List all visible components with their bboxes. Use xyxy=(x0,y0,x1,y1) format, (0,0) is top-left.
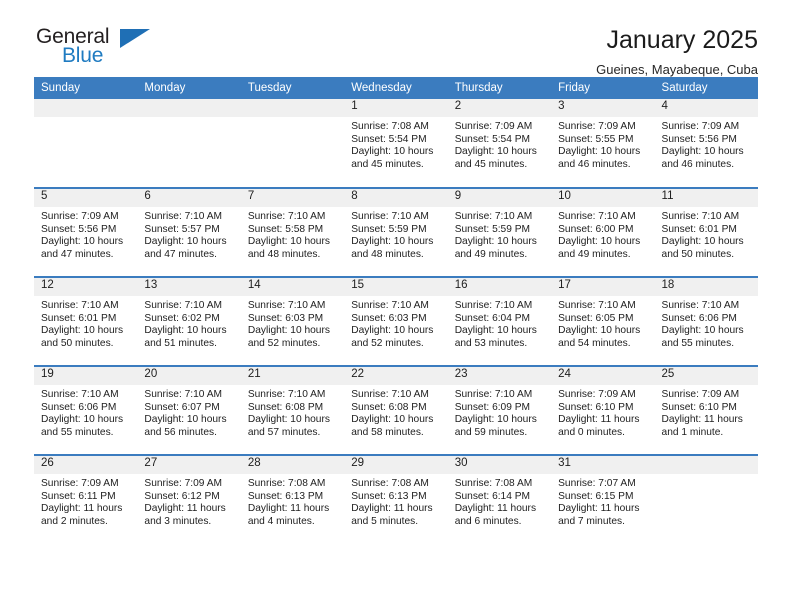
sunrise-text: Sunrise: 7:09 AM xyxy=(144,478,234,491)
sunset-text: Sunset: 5:54 PM xyxy=(455,134,545,147)
sunrise-text: Sunrise: 7:10 AM xyxy=(144,389,234,402)
sunrise-text: Sunrise: 7:07 AM xyxy=(558,478,648,491)
day-number: 10 xyxy=(551,189,654,207)
calendar-day-cell[interactable]: 7Sunrise: 7:10 AMSunset: 5:58 PMDaylight… xyxy=(241,188,344,277)
day-number: 1 xyxy=(344,99,447,117)
daylight-text-line2: and 52 minutes. xyxy=(351,338,441,351)
sunrise-text: Sunrise: 7:10 AM xyxy=(248,211,338,224)
calendar-day-cell[interactable]: 4Sunrise: 7:09 AMSunset: 5:56 PMDaylight… xyxy=(655,99,758,188)
sunrise-text: Sunrise: 7:10 AM xyxy=(144,300,234,313)
day-number: 16 xyxy=(448,278,551,296)
day-number: 6 xyxy=(137,189,240,207)
daylight-text-line1: Daylight: 10 hours xyxy=(144,325,234,338)
day-cell-inner xyxy=(241,99,344,187)
weekday-header-thursday: Thursday xyxy=(448,77,551,99)
calendar-week-row: 12Sunrise: 7:10 AMSunset: 6:01 PMDayligh… xyxy=(34,277,758,366)
day-cell-details: Sunrise: 7:09 AMSunset: 6:11 PMDaylight:… xyxy=(34,474,137,528)
sunrise-text: Sunrise: 7:09 AM xyxy=(558,121,648,134)
sunrise-text: Sunrise: 7:08 AM xyxy=(351,121,441,134)
sunset-text: Sunset: 6:08 PM xyxy=(351,402,441,415)
weekday-header-wednesday: Wednesday xyxy=(344,77,447,99)
daylight-text-line2: and 6 minutes. xyxy=(455,516,545,529)
sunrise-text: Sunrise: 7:10 AM xyxy=(351,211,441,224)
daylight-text-line2: and 53 minutes. xyxy=(455,338,545,351)
daylight-text-line2: and 46 minutes. xyxy=(662,159,752,172)
day-cell-details: Sunrise: 7:09 AMSunset: 6:12 PMDaylight:… xyxy=(137,474,240,528)
day-cell-details: Sunrise: 7:09 AMSunset: 5:55 PMDaylight:… xyxy=(551,117,654,171)
daylight-text-line1: Daylight: 10 hours xyxy=(558,236,648,249)
daylight-text-line2: and 1 minute. xyxy=(662,427,752,440)
day-cell-details: Sunrise: 7:10 AMSunset: 6:08 PMDaylight:… xyxy=(241,385,344,439)
sunrise-text: Sunrise: 7:09 AM xyxy=(662,121,752,134)
daylight-text-line2: and 50 minutes. xyxy=(41,338,131,351)
daylight-text-line1: Daylight: 10 hours xyxy=(455,414,545,427)
sunrise-text: Sunrise: 7:10 AM xyxy=(455,389,545,402)
day-cell-details: Sunrise: 7:10 AMSunset: 6:03 PMDaylight:… xyxy=(344,296,447,350)
day-number: 20 xyxy=(137,367,240,385)
day-cell-details: Sunrise: 7:08 AMSunset: 5:54 PMDaylight:… xyxy=(344,117,447,171)
daylight-text-line2: and 52 minutes. xyxy=(248,338,338,351)
sunset-text: Sunset: 6:04 PM xyxy=(455,313,545,326)
sunset-text: Sunset: 6:06 PM xyxy=(41,402,131,415)
daylight-text-line2: and 57 minutes. xyxy=(248,427,338,440)
day-cell-inner: 16Sunrise: 7:10 AMSunset: 6:04 PMDayligh… xyxy=(448,278,551,365)
sunset-text: Sunset: 5:57 PM xyxy=(144,224,234,237)
daylight-text-line1: Daylight: 10 hours xyxy=(351,146,441,159)
logo-text-blue: Blue xyxy=(62,45,103,66)
day-cell-inner xyxy=(137,99,240,187)
day-cell-inner: 6Sunrise: 7:10 AMSunset: 5:57 PMDaylight… xyxy=(137,189,240,276)
sunset-text: Sunset: 5:56 PM xyxy=(41,224,131,237)
day-cell-details: Sunrise: 7:10 AMSunset: 5:59 PMDaylight:… xyxy=(448,207,551,261)
title-block: January 2025 Gueines, Mayabeque, Cuba xyxy=(596,26,758,77)
calendar-head: Sunday Monday Tuesday Wednesday Thursday… xyxy=(34,77,758,99)
day-cell-details: Sunrise: 7:10 AMSunset: 5:58 PMDaylight:… xyxy=(241,207,344,261)
sunset-text: Sunset: 6:01 PM xyxy=(41,313,131,326)
calendar-day-cell-empty xyxy=(241,99,344,188)
day-cell-inner: 5Sunrise: 7:09 AMSunset: 5:56 PMDaylight… xyxy=(34,189,137,276)
daylight-text-line2: and 4 minutes. xyxy=(248,516,338,529)
day-cell-details: Sunrise: 7:08 AMSunset: 6:13 PMDaylight:… xyxy=(241,474,344,528)
calendar-day-cell[interactable]: 21Sunrise: 7:10 AMSunset: 6:08 PMDayligh… xyxy=(241,366,344,455)
day-cell-details: Sunrise: 7:09 AMSunset: 5:56 PMDaylight:… xyxy=(34,207,137,261)
day-number: 24 xyxy=(551,367,654,385)
daylight-text-line2: and 45 minutes. xyxy=(351,159,441,172)
sunrise-text: Sunrise: 7:10 AM xyxy=(455,300,545,313)
daylight-text-line1: Daylight: 11 hours xyxy=(662,414,752,427)
page-title: January 2025 xyxy=(596,26,758,55)
sunrise-text: Sunrise: 7:10 AM xyxy=(558,300,648,313)
day-number: 2 xyxy=(448,99,551,117)
calendar-day-cell[interactable]: 15Sunrise: 7:10 AMSunset: 6:03 PMDayligh… xyxy=(344,277,447,366)
page-header: General Blue January 2025 Gueines, Mayab… xyxy=(34,0,758,70)
weekday-header-saturday: Saturday xyxy=(655,77,758,99)
day-number: 21 xyxy=(241,367,344,385)
daylight-text-line2: and 54 minutes. xyxy=(558,338,648,351)
sunset-text: Sunset: 6:13 PM xyxy=(351,491,441,504)
day-cell-inner: 20Sunrise: 7:10 AMSunset: 6:07 PMDayligh… xyxy=(137,367,240,454)
day-cell-details: Sunrise: 7:09 AMSunset: 6:10 PMDaylight:… xyxy=(655,385,758,439)
day-number: 29 xyxy=(344,456,447,474)
daylight-text-line2: and 48 minutes. xyxy=(248,249,338,262)
daylight-text-line2: and 7 minutes. xyxy=(558,516,648,529)
calendar-day-cell[interactable]: 14Sunrise: 7:10 AMSunset: 6:03 PMDayligh… xyxy=(241,277,344,366)
calendar-day-cell[interactable]: 31Sunrise: 7:07 AMSunset: 6:15 PMDayligh… xyxy=(551,455,654,544)
calendar-day-cell[interactable]: 25Sunrise: 7:09 AMSunset: 6:10 PMDayligh… xyxy=(655,366,758,455)
sunset-text: Sunset: 5:54 PM xyxy=(351,134,441,147)
calendar-day-cell[interactable]: 1Sunrise: 7:08 AMSunset: 5:54 PMDaylight… xyxy=(344,99,447,188)
logo-triangle-icon xyxy=(120,29,150,48)
calendar-day-cell-empty xyxy=(34,99,137,188)
day-cell-details: Sunrise: 7:10 AMSunset: 6:00 PMDaylight:… xyxy=(551,207,654,261)
calendar-day-cell[interactable]: 20Sunrise: 7:10 AMSunset: 6:07 PMDayligh… xyxy=(137,366,240,455)
sunrise-text: Sunrise: 7:09 AM xyxy=(455,121,545,134)
calendar-day-cell[interactable]: 13Sunrise: 7:10 AMSunset: 6:02 PMDayligh… xyxy=(137,277,240,366)
sunrise-text: Sunrise: 7:08 AM xyxy=(248,478,338,491)
day-cell-details: Sunrise: 7:10 AMSunset: 6:01 PMDaylight:… xyxy=(655,207,758,261)
page-subtitle: Gueines, Mayabeque, Cuba xyxy=(596,62,758,77)
calendar-day-cell[interactable]: 23Sunrise: 7:10 AMSunset: 6:09 PMDayligh… xyxy=(448,366,551,455)
sunset-text: Sunset: 6:07 PM xyxy=(144,402,234,415)
sunrise-text: Sunrise: 7:10 AM xyxy=(351,300,441,313)
sunset-text: Sunset: 6:11 PM xyxy=(41,491,131,504)
day-number: 7 xyxy=(241,189,344,207)
calendar-day-cell[interactable]: 3Sunrise: 7:09 AMSunset: 5:55 PMDaylight… xyxy=(551,99,654,188)
day-cell-inner: 19Sunrise: 7:10 AMSunset: 6:06 PMDayligh… xyxy=(34,367,137,454)
daylight-text-line1: Daylight: 10 hours xyxy=(144,414,234,427)
sunrise-text: Sunrise: 7:10 AM xyxy=(144,211,234,224)
calendar-day-cell[interactable]: 30Sunrise: 7:08 AMSunset: 6:14 PMDayligh… xyxy=(448,455,551,544)
sunrise-text: Sunrise: 7:10 AM xyxy=(662,211,752,224)
calendar-day-cell[interactable]: 29Sunrise: 7:08 AMSunset: 6:13 PMDayligh… xyxy=(344,455,447,544)
weekday-header-row: Sunday Monday Tuesday Wednesday Thursday… xyxy=(34,77,758,99)
day-number: 12 xyxy=(34,278,137,296)
calendar-week-row: 19Sunrise: 7:10 AMSunset: 6:06 PMDayligh… xyxy=(34,366,758,455)
daylight-text-line2: and 0 minutes. xyxy=(558,427,648,440)
day-cell-inner: 28Sunrise: 7:08 AMSunset: 6:13 PMDayligh… xyxy=(241,456,344,544)
daylight-text-line1: Daylight: 10 hours xyxy=(351,414,441,427)
calendar-day-cell[interactable]: 6Sunrise: 7:10 AMSunset: 5:57 PMDaylight… xyxy=(137,188,240,277)
sunrise-text: Sunrise: 7:10 AM xyxy=(248,300,338,313)
daylight-text-line1: Daylight: 10 hours xyxy=(248,414,338,427)
daylight-text-line1: Daylight: 10 hours xyxy=(662,236,752,249)
day-number: 25 xyxy=(655,367,758,385)
day-number: 4 xyxy=(655,99,758,117)
sunset-text: Sunset: 6:03 PM xyxy=(351,313,441,326)
sunrise-text: Sunrise: 7:10 AM xyxy=(248,389,338,402)
calendar-week-row: 26Sunrise: 7:09 AMSunset: 6:11 PMDayligh… xyxy=(34,455,758,544)
day-cell-inner: 11Sunrise: 7:10 AMSunset: 6:01 PMDayligh… xyxy=(655,189,758,276)
calendar-body: 1Sunrise: 7:08 AMSunset: 5:54 PMDaylight… xyxy=(34,99,758,544)
day-cell-details: Sunrise: 7:09 AMSunset: 5:54 PMDaylight:… xyxy=(448,117,551,171)
daylight-text-line1: Daylight: 10 hours xyxy=(248,325,338,338)
day-cell-details: Sunrise: 7:10 AMSunset: 6:05 PMDaylight:… xyxy=(551,296,654,350)
daylight-text-line1: Daylight: 10 hours xyxy=(41,414,131,427)
sunset-text: Sunset: 6:06 PM xyxy=(662,313,752,326)
day-cell-details: Sunrise: 7:10 AMSunset: 6:02 PMDaylight:… xyxy=(137,296,240,350)
day-number: 26 xyxy=(34,456,137,474)
day-number: 3 xyxy=(551,99,654,117)
day-number: 17 xyxy=(551,278,654,296)
calendar-day-cell[interactable]: 10Sunrise: 7:10 AMSunset: 6:00 PMDayligh… xyxy=(551,188,654,277)
day-number: 11 xyxy=(655,189,758,207)
calendar-day-cell[interactable]: 16Sunrise: 7:10 AMSunset: 6:04 PMDayligh… xyxy=(448,277,551,366)
day-cell-details: Sunrise: 7:10 AMSunset: 6:06 PMDaylight:… xyxy=(655,296,758,350)
day-cell-inner xyxy=(34,99,137,187)
day-cell-details: Sunrise: 7:10 AMSunset: 6:08 PMDaylight:… xyxy=(344,385,447,439)
day-cell-inner: 9Sunrise: 7:10 AMSunset: 5:59 PMDaylight… xyxy=(448,189,551,276)
daylight-text-line1: Daylight: 10 hours xyxy=(662,325,752,338)
day-cell-inner: 3Sunrise: 7:09 AMSunset: 5:55 PMDaylight… xyxy=(551,99,654,187)
day-cell-inner xyxy=(655,456,758,544)
day-number: 22 xyxy=(344,367,447,385)
sunrise-text: Sunrise: 7:08 AM xyxy=(455,478,545,491)
calendar-day-cell[interactable]: 9Sunrise: 7:10 AMSunset: 5:59 PMDaylight… xyxy=(448,188,551,277)
day-cell-inner: 10Sunrise: 7:10 AMSunset: 6:00 PMDayligh… xyxy=(551,189,654,276)
calendar-day-cell[interactable]: 17Sunrise: 7:10 AMSunset: 6:05 PMDayligh… xyxy=(551,277,654,366)
day-cell-inner: 8Sunrise: 7:10 AMSunset: 5:59 PMDaylight… xyxy=(344,189,447,276)
calendar-day-cell[interactable]: 24Sunrise: 7:09 AMSunset: 6:10 PMDayligh… xyxy=(551,366,654,455)
sunset-text: Sunset: 5:55 PM xyxy=(558,134,648,147)
daylight-text-line2: and 47 minutes. xyxy=(41,249,131,262)
day-cell-details: Sunrise: 7:10 AMSunset: 6:01 PMDaylight:… xyxy=(34,296,137,350)
day-number: 9 xyxy=(448,189,551,207)
sunset-text: Sunset: 5:56 PM xyxy=(662,134,752,147)
day-cell-details: Sunrise: 7:10 AMSunset: 5:59 PMDaylight:… xyxy=(344,207,447,261)
day-cell-inner: 1Sunrise: 7:08 AMSunset: 5:54 PMDaylight… xyxy=(344,99,447,187)
day-cell-details: Sunrise: 7:09 AMSunset: 6:10 PMDaylight:… xyxy=(551,385,654,439)
day-cell-inner: 21Sunrise: 7:10 AMSunset: 6:08 PMDayligh… xyxy=(241,367,344,454)
day-cell-inner: 15Sunrise: 7:10 AMSunset: 6:03 PMDayligh… xyxy=(344,278,447,365)
daylight-text-line2: and 47 minutes. xyxy=(144,249,234,262)
daylight-text-line2: and 55 minutes. xyxy=(662,338,752,351)
daylight-text-line1: Daylight: 10 hours xyxy=(455,325,545,338)
daylight-text-line2: and 58 minutes. xyxy=(351,427,441,440)
day-cell-details: Sunrise: 7:10 AMSunset: 6:07 PMDaylight:… xyxy=(137,385,240,439)
sunrise-text: Sunrise: 7:10 AM xyxy=(351,389,441,402)
daylight-text-line2: and 48 minutes. xyxy=(351,249,441,262)
daylight-text-line1: Daylight: 10 hours xyxy=(351,236,441,249)
sunset-text: Sunset: 5:58 PM xyxy=(248,224,338,237)
daylight-text-line2: and 2 minutes. xyxy=(41,516,131,529)
calendar-day-cell[interactable]: 8Sunrise: 7:10 AMSunset: 5:59 PMDaylight… xyxy=(344,188,447,277)
day-cell-details: Sunrise: 7:07 AMSunset: 6:15 PMDaylight:… xyxy=(551,474,654,528)
sunset-text: Sunset: 5:59 PM xyxy=(351,224,441,237)
sunrise-text: Sunrise: 7:09 AM xyxy=(558,389,648,402)
day-cell-details: Sunrise: 7:10 AMSunset: 6:03 PMDaylight:… xyxy=(241,296,344,350)
daylight-text-line2: and 56 minutes. xyxy=(144,427,234,440)
sunrise-text: Sunrise: 7:08 AM xyxy=(351,478,441,491)
day-number: 13 xyxy=(137,278,240,296)
weekday-header-tuesday: Tuesday xyxy=(241,77,344,99)
day-number xyxy=(34,99,137,117)
daylight-text-line1: Daylight: 10 hours xyxy=(558,146,648,159)
day-cell-details: Sunrise: 7:08 AMSunset: 6:13 PMDaylight:… xyxy=(344,474,447,528)
sunset-text: Sunset: 6:14 PM xyxy=(455,491,545,504)
daylight-text-line2: and 55 minutes. xyxy=(41,427,131,440)
day-cell-inner: 17Sunrise: 7:10 AMSunset: 6:05 PMDayligh… xyxy=(551,278,654,365)
day-cell-inner: 12Sunrise: 7:10 AMSunset: 6:01 PMDayligh… xyxy=(34,278,137,365)
daylight-text-line2: and 5 minutes. xyxy=(351,516,441,529)
sunset-text: Sunset: 6:12 PM xyxy=(144,491,234,504)
day-cell-inner: 18Sunrise: 7:10 AMSunset: 6:06 PMDayligh… xyxy=(655,278,758,365)
day-cell-inner: 27Sunrise: 7:09 AMSunset: 6:12 PMDayligh… xyxy=(137,456,240,544)
daylight-text-line1: Daylight: 10 hours xyxy=(144,236,234,249)
sunset-text: Sunset: 6:03 PM xyxy=(248,313,338,326)
day-cell-inner: 7Sunrise: 7:10 AMSunset: 5:58 PMDaylight… xyxy=(241,189,344,276)
daylight-text-line2: and 51 minutes. xyxy=(144,338,234,351)
sunrise-text: Sunrise: 7:10 AM xyxy=(558,211,648,224)
sunset-text: Sunset: 6:09 PM xyxy=(455,402,545,415)
day-cell-inner: 25Sunrise: 7:09 AMSunset: 6:10 PMDayligh… xyxy=(655,367,758,454)
sunset-text: Sunset: 6:15 PM xyxy=(558,491,648,504)
daylight-text-line1: Daylight: 10 hours xyxy=(455,146,545,159)
day-cell-inner: 30Sunrise: 7:08 AMSunset: 6:14 PMDayligh… xyxy=(448,456,551,544)
calendar-day-cell[interactable]: 2Sunrise: 7:09 AMSunset: 5:54 PMDaylight… xyxy=(448,99,551,188)
calendar-day-cell[interactable]: 19Sunrise: 7:10 AMSunset: 6:06 PMDayligh… xyxy=(34,366,137,455)
sunrise-text: Sunrise: 7:10 AM xyxy=(41,389,131,402)
daylight-text-line1: Daylight: 10 hours xyxy=(351,325,441,338)
sunrise-text: Sunrise: 7:09 AM xyxy=(41,478,131,491)
daylight-text-line1: Daylight: 11 hours xyxy=(455,503,545,516)
day-cell-details: Sunrise: 7:09 AMSunset: 5:56 PMDaylight:… xyxy=(655,117,758,171)
calendar-week-row: 1Sunrise: 7:08 AMSunset: 5:54 PMDaylight… xyxy=(34,99,758,188)
day-cell-details: Sunrise: 7:10 AMSunset: 6:09 PMDaylight:… xyxy=(448,385,551,439)
calendar-day-cell[interactable]: 11Sunrise: 7:10 AMSunset: 6:01 PMDayligh… xyxy=(655,188,758,277)
day-cell-inner: 22Sunrise: 7:10 AMSunset: 6:08 PMDayligh… xyxy=(344,367,447,454)
day-number: 31 xyxy=(551,456,654,474)
calendar-day-cell[interactable]: 5Sunrise: 7:09 AMSunset: 5:56 PMDaylight… xyxy=(34,188,137,277)
day-cell-details: Sunrise: 7:10 AMSunset: 6:06 PMDaylight:… xyxy=(34,385,137,439)
calendar-table: Sunday Monday Tuesday Wednesday Thursday… xyxy=(34,77,758,544)
weekday-header-monday: Monday xyxy=(137,77,240,99)
sunset-text: Sunset: 6:01 PM xyxy=(662,224,752,237)
sunset-text: Sunset: 6:08 PM xyxy=(248,402,338,415)
day-cell-inner: 13Sunrise: 7:10 AMSunset: 6:02 PMDayligh… xyxy=(137,278,240,365)
sunset-text: Sunset: 6:10 PM xyxy=(662,402,752,415)
day-cell-inner: 31Sunrise: 7:07 AMSunset: 6:15 PMDayligh… xyxy=(551,456,654,544)
day-number: 5 xyxy=(34,189,137,207)
sunrise-text: Sunrise: 7:09 AM xyxy=(662,389,752,402)
day-number: 28 xyxy=(241,456,344,474)
daylight-text-line1: Daylight: 10 hours xyxy=(558,325,648,338)
daylight-text-line1: Daylight: 10 hours xyxy=(41,236,131,249)
day-number: 23 xyxy=(448,367,551,385)
generalblue-logo[interactable]: General Blue xyxy=(34,26,164,72)
daylight-text-line2: and 45 minutes. xyxy=(455,159,545,172)
daylight-text-line2: and 49 minutes. xyxy=(455,249,545,262)
daylight-text-line1: Daylight: 10 hours xyxy=(248,236,338,249)
calendar-day-cell-empty xyxy=(655,455,758,544)
daylight-text-line1: Daylight: 11 hours xyxy=(41,503,131,516)
calendar-page: General Blue January 2025 Gueines, Mayab… xyxy=(0,0,792,612)
sunset-text: Sunset: 6:05 PM xyxy=(558,313,648,326)
day-number: 15 xyxy=(344,278,447,296)
daylight-text-line1: Daylight: 10 hours xyxy=(662,146,752,159)
daylight-text-line1: Daylight: 11 hours xyxy=(248,503,338,516)
daylight-text-line1: Daylight: 11 hours xyxy=(351,503,441,516)
day-number: 8 xyxy=(344,189,447,207)
daylight-text-line1: Daylight: 11 hours xyxy=(558,414,648,427)
calendar-week-row: 5Sunrise: 7:09 AMSunset: 5:56 PMDaylight… xyxy=(34,188,758,277)
day-number xyxy=(137,99,240,117)
daylight-text-line2: and 46 minutes. xyxy=(558,159,648,172)
day-cell-details: Sunrise: 7:10 AMSunset: 6:04 PMDaylight:… xyxy=(448,296,551,350)
calendar-day-cell[interactable]: 26Sunrise: 7:09 AMSunset: 6:11 PMDayligh… xyxy=(34,455,137,544)
daylight-text-line1: Daylight: 11 hours xyxy=(558,503,648,516)
calendar-day-cell[interactable]: 22Sunrise: 7:10 AMSunset: 6:08 PMDayligh… xyxy=(344,366,447,455)
daylight-text-line1: Daylight: 11 hours xyxy=(144,503,234,516)
day-number: 18 xyxy=(655,278,758,296)
sunset-text: Sunset: 6:10 PM xyxy=(558,402,648,415)
calendar-day-cell[interactable]: 28Sunrise: 7:08 AMSunset: 6:13 PMDayligh… xyxy=(241,455,344,544)
day-number: 14 xyxy=(241,278,344,296)
daylight-text-line1: Daylight: 10 hours xyxy=(455,236,545,249)
day-cell-details: Sunrise: 7:10 AMSunset: 5:57 PMDaylight:… xyxy=(137,207,240,261)
day-cell-inner: 2Sunrise: 7:09 AMSunset: 5:54 PMDaylight… xyxy=(448,99,551,187)
calendar-day-cell-empty xyxy=(137,99,240,188)
day-number xyxy=(655,456,758,474)
calendar-day-cell[interactable]: 18Sunrise: 7:10 AMSunset: 6:06 PMDayligh… xyxy=(655,277,758,366)
sunrise-text: Sunrise: 7:10 AM xyxy=(455,211,545,224)
day-cell-inner: 24Sunrise: 7:09 AMSunset: 6:10 PMDayligh… xyxy=(551,367,654,454)
day-cell-details: Sunrise: 7:08 AMSunset: 6:14 PMDaylight:… xyxy=(448,474,551,528)
calendar-day-cell[interactable]: 27Sunrise: 7:09 AMSunset: 6:12 PMDayligh… xyxy=(137,455,240,544)
daylight-text-line2: and 50 minutes. xyxy=(662,249,752,262)
day-number: 27 xyxy=(137,456,240,474)
sunrise-text: Sunrise: 7:10 AM xyxy=(41,300,131,313)
sunset-text: Sunset: 6:00 PM xyxy=(558,224,648,237)
daylight-text-line2: and 49 minutes. xyxy=(558,249,648,262)
daylight-text-line1: Daylight: 10 hours xyxy=(41,325,131,338)
day-cell-inner: 14Sunrise: 7:10 AMSunset: 6:03 PMDayligh… xyxy=(241,278,344,365)
weekday-header-friday: Friday xyxy=(551,77,654,99)
calendar-day-cell[interactable]: 12Sunrise: 7:10 AMSunset: 6:01 PMDayligh… xyxy=(34,277,137,366)
sunrise-text: Sunrise: 7:09 AM xyxy=(41,211,131,224)
daylight-text-line2: and 3 minutes. xyxy=(144,516,234,529)
day-cell-inner: 23Sunrise: 7:10 AMSunset: 6:09 PMDayligh… xyxy=(448,367,551,454)
sunset-text: Sunset: 6:13 PM xyxy=(248,491,338,504)
day-cell-inner: 26Sunrise: 7:09 AMSunset: 6:11 PMDayligh… xyxy=(34,456,137,544)
day-number xyxy=(241,99,344,117)
day-cell-inner: 29Sunrise: 7:08 AMSunset: 6:13 PMDayligh… xyxy=(344,456,447,544)
day-number: 30 xyxy=(448,456,551,474)
weekday-header-sunday: Sunday xyxy=(34,77,137,99)
day-cell-inner: 4Sunrise: 7:09 AMSunset: 5:56 PMDaylight… xyxy=(655,99,758,187)
sunset-text: Sunset: 6:02 PM xyxy=(144,313,234,326)
sunrise-text: Sunrise: 7:10 AM xyxy=(662,300,752,313)
day-number: 19 xyxy=(34,367,137,385)
daylight-text-line2: and 59 minutes. xyxy=(455,427,545,440)
sunset-text: Sunset: 5:59 PM xyxy=(455,224,545,237)
